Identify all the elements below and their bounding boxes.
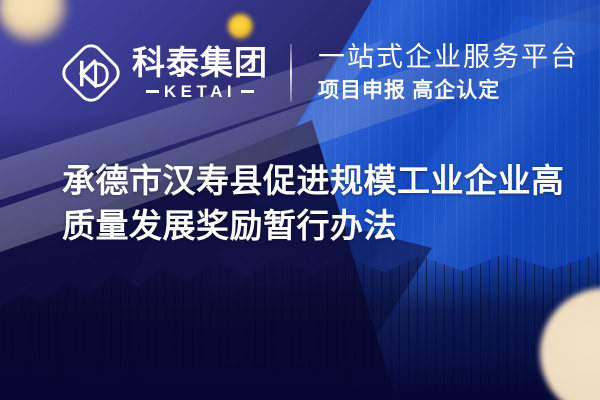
banner-header: 科泰集团 KETAI 一站式企业服务平台 项目申报 高企认定 bbox=[0, 34, 600, 112]
page-title-line-2: 质量发展奖励暂行办法 bbox=[62, 203, 572, 248]
page-title-line-1: 承德市汉寿县促进规模工业企业高 bbox=[62, 158, 572, 203]
brand-lockup[interactable]: 科泰集团 KETAI bbox=[62, 44, 268, 102]
brand-rule-right bbox=[241, 90, 254, 93]
brand-name-cn: 科泰集团 bbox=[132, 46, 268, 81]
tagline-sub: 项目申报 高企认定 bbox=[318, 77, 579, 104]
tagline-block: 一站式企业服务平台 项目申报 高企认定 bbox=[318, 42, 579, 104]
brand-text-block: 科泰集团 KETAI bbox=[132, 46, 268, 100]
policy-banner: 科泰集团 KETAI 一站式企业服务平台 项目申报 高企认定 承德市汉寿县促进规… bbox=[0, 0, 600, 400]
tagline-main: 一站式企业服务平台 bbox=[318, 42, 579, 74]
page-title: 承德市汉寿县促进规模工业企业高 质量发展奖励暂行办法 bbox=[62, 158, 572, 248]
vertical-divider bbox=[290, 44, 292, 102]
ketai-diamond-logo-icon bbox=[62, 44, 120, 102]
brand-name-en-row: KETAI bbox=[132, 83, 268, 100]
brand-rule-left bbox=[146, 90, 159, 93]
brand-name-en: KETAI bbox=[164, 83, 236, 100]
